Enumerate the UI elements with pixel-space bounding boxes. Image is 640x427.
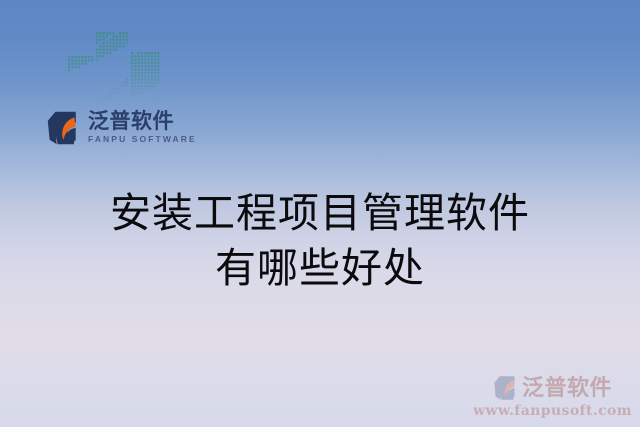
fanpu-logo-mark-icon	[46, 110, 82, 146]
page-title: 安装工程项目管理软件 有哪些好处	[0, 186, 640, 296]
page-title-line-1: 安装工程项目管理软件	[0, 186, 640, 241]
pixel-building-skyline-icon	[68, 28, 178, 108]
brand-wordmark: 泛普软件 FANPU SOFTWARE	[88, 111, 197, 146]
watermark-brand-name: 泛普软件	[522, 377, 612, 399]
brand-logo: 泛普软件 FANPU SOFTWARE	[46, 110, 197, 146]
brand-name-cn: 泛普软件	[88, 111, 197, 133]
brand-name-en: FANPU SOFTWARE	[88, 134, 197, 146]
poster-canvas: 泛普软件 FANPU SOFTWARE 安装工程项目管理软件 有哪些好处 泛普软…	[0, 0, 640, 427]
watermark: 泛普软件 www.fanpusoft.com	[473, 375, 632, 419]
page-title-line-2: 有哪些好处	[0, 241, 640, 296]
watermark-url: www.fanpusoft.com	[473, 403, 632, 419]
fanpu-watermark-mark-icon	[493, 375, 519, 401]
watermark-logo-row: 泛普软件	[493, 375, 612, 401]
